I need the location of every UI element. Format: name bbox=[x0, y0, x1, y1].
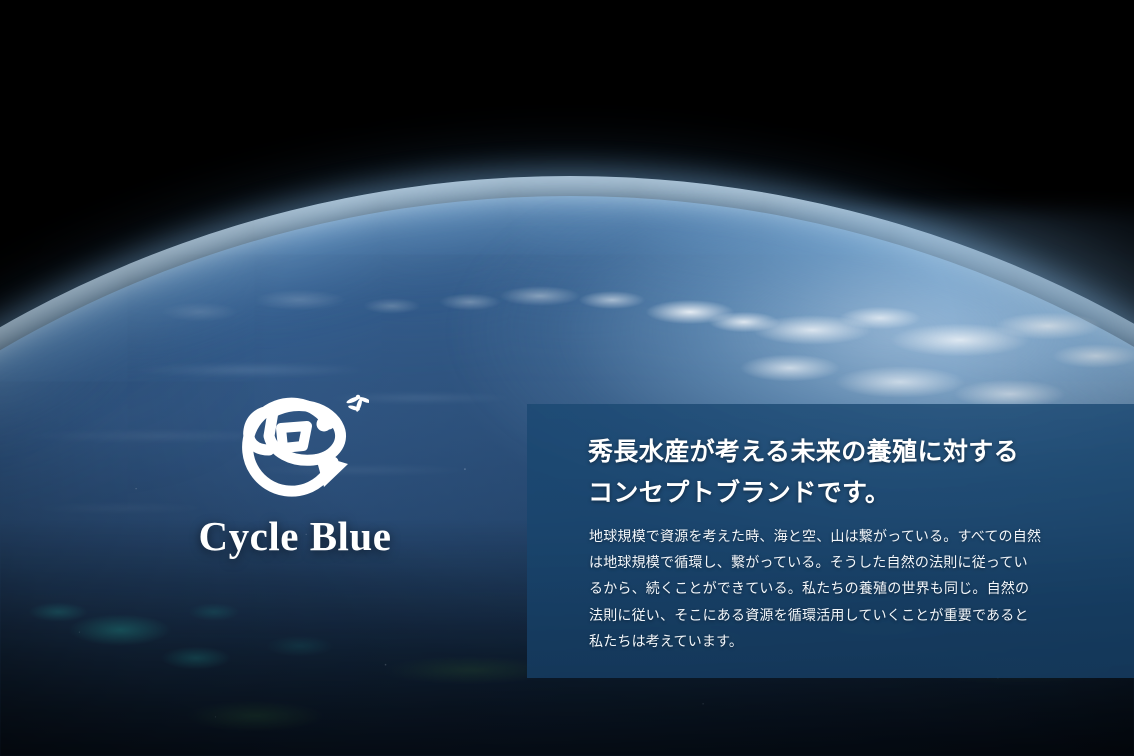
concept-body: 地球規模で資源を考えた時、海と空、山は繋がっている。すべての自然 は地球規模で循… bbox=[589, 523, 1094, 654]
cycle-blue-fish-arrow-mark bbox=[221, 388, 369, 508]
concept-body-line: るから、続くことができている。私たちの養殖の世界も同じ。自然の bbox=[589, 575, 1094, 601]
concept-heading-line: 秀長水産が考える未来の養殖に対する bbox=[588, 432, 1094, 473]
logo-wordmark: Cycle Blue bbox=[150, 512, 440, 560]
concept-body-line: は地球規模で循環し、繋がっている。そうした自然の法則に従ってい bbox=[589, 549, 1094, 575]
concept-body-line: 私たちは考えています。 bbox=[589, 628, 1094, 654]
concept-body-line: 地球規模で資源を考えた時、海と空、山は繋がっている。すべての自然 bbox=[589, 523, 1094, 549]
concept-panel: 秀長水産が考える未来の養殖に対する コンセプトブランドです。 地球規模で資源を考… bbox=[527, 404, 1134, 678]
concept-heading-line: コンセプトブランドです。 bbox=[588, 473, 1094, 514]
concept-body-line: 法則に従い、そこにある資源を循環活用していくことが重要であると bbox=[589, 602, 1094, 628]
hero-section: Cycle Blue 秀長水産が考える未来の養殖に対する コンセプトブランドです… bbox=[0, 0, 1134, 756]
concept-heading: 秀長水産が考える未来の養殖に対する コンセプトブランドです。 bbox=[588, 432, 1094, 513]
brand-logo-lockup: Cycle Blue bbox=[150, 388, 440, 560]
dragonfly-icon bbox=[346, 395, 369, 413]
